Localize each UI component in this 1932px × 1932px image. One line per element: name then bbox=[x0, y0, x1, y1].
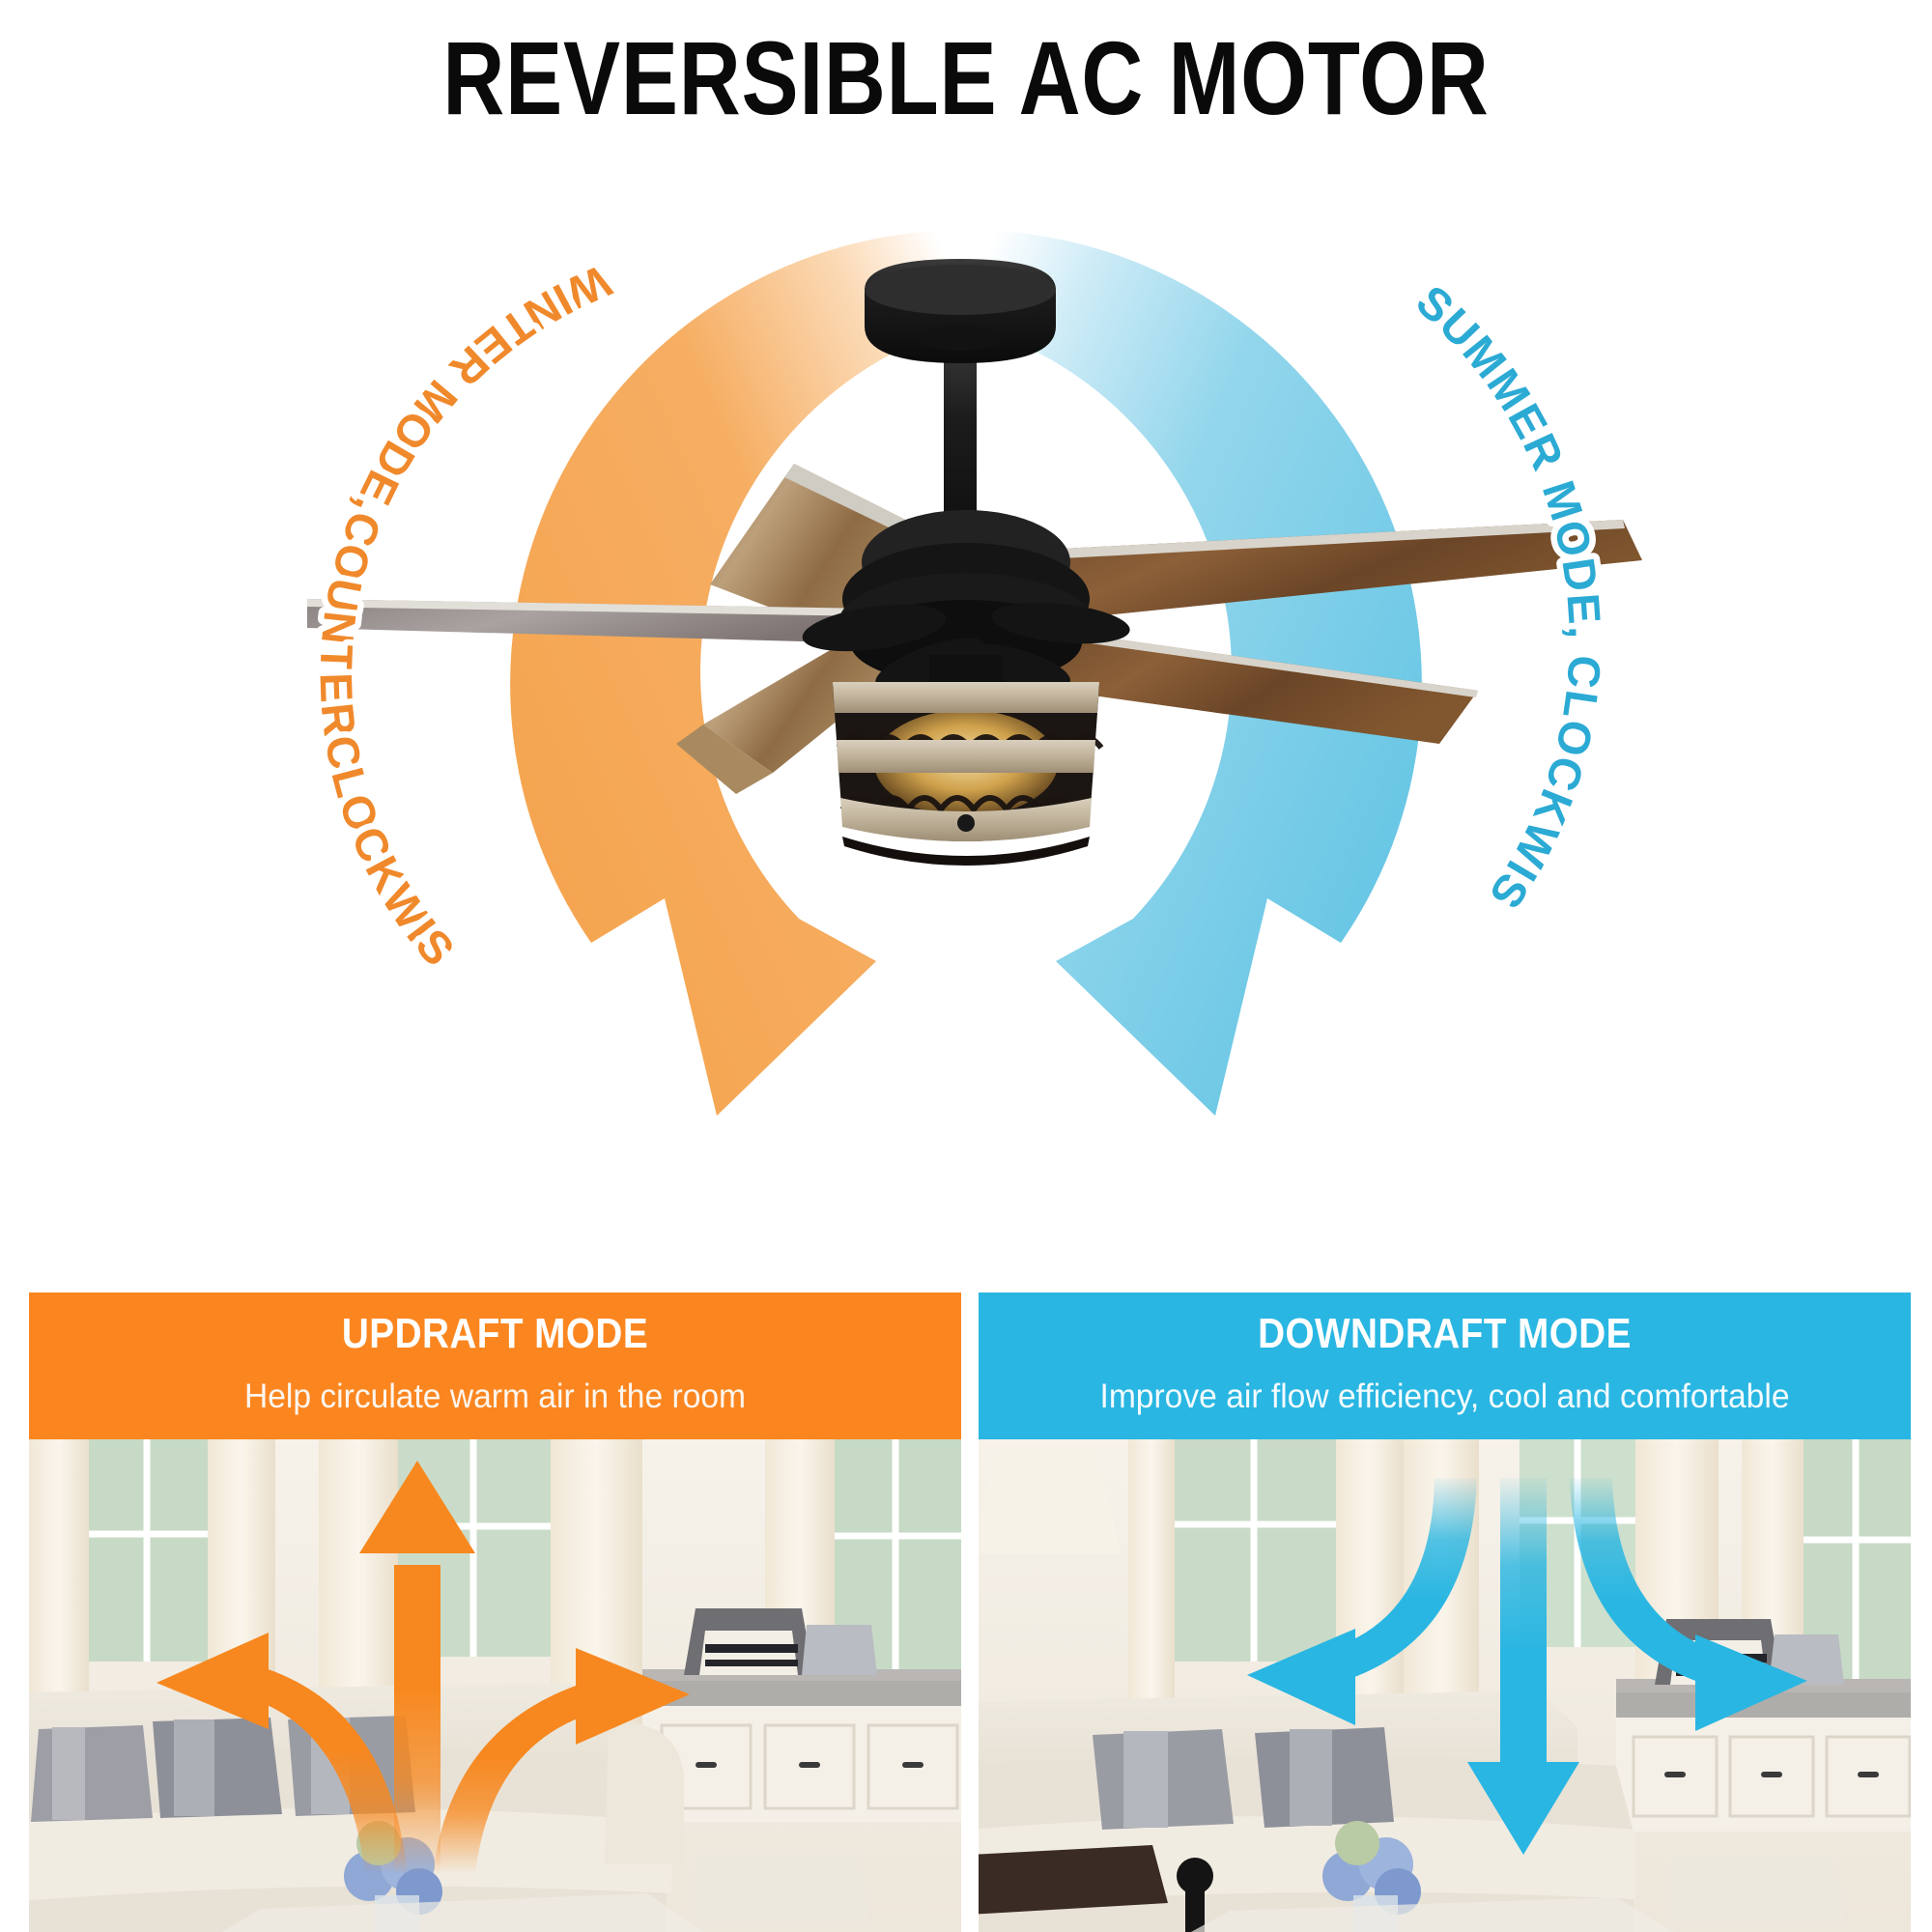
panel-downdraft-header: DOWNDRAFT MODE Improve air flow efficien… bbox=[979, 1293, 1911, 1439]
panel-downdraft-subtitle: Improve air flow efficiency, cool and co… bbox=[997, 1378, 1891, 1416]
panel-downdraft-title: DOWNDRAFT MODE bbox=[1035, 1310, 1855, 1358]
panel-updraft-title: UPDRAFT MODE bbox=[85, 1310, 905, 1358]
reversible-motor-diagram: WINTER MODE,COUNTERCLOCKWISE SUMMER MODE… bbox=[0, 145, 1932, 1256]
page-title: REVERSIBLE AC MOTOR bbox=[174, 21, 1758, 136]
caged-light-fixture bbox=[833, 682, 1101, 866]
infographic-root: REVERSIBLE AC MOTOR bbox=[0, 0, 1932, 1932]
mode-panels: UPDRAFT MODE Help circulate warm air in … bbox=[0, 1293, 1932, 1932]
panel-updraft-photo bbox=[29, 1439, 961, 1932]
winter-mode-label: WINTER MODE,COUNTERCLOCKWISE bbox=[0, 145, 618, 977]
panel-updraft-header: UPDRAFT MODE Help circulate warm air in … bbox=[29, 1293, 961, 1439]
panel-updraft-subtitle: Help circulate warm air in the room bbox=[47, 1378, 942, 1416]
panel-downdraft-photo bbox=[979, 1439, 1911, 1932]
panel-updraft[interactable]: UPDRAFT MODE Help circulate warm air in … bbox=[29, 1293, 961, 1932]
panel-downdraft[interactable]: DOWNDRAFT MODE Improve air flow efficien… bbox=[979, 1293, 1911, 1932]
